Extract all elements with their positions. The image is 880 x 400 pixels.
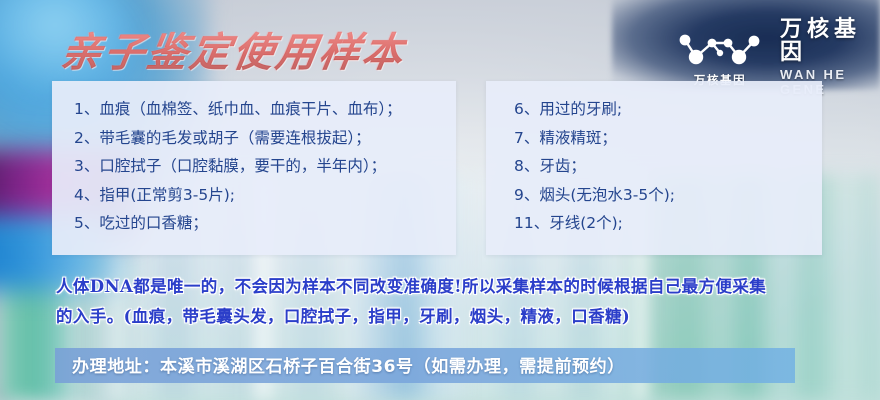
list-item: 8、牙齿； [514, 152, 822, 181]
list-item: 6、用过的牙刷; [514, 95, 822, 124]
list-item: 7、精液精斑； [514, 124, 822, 153]
sample-panel-left: 1、血痕（血棉签、纸巾血、血痕干片、血布）； 2、带毛囊的毛发或胡子（需要连根拔… [52, 81, 456, 255]
sample-list-right: 6、用过的牙刷; 7、精液精斑； 8、牙齿； 9、烟头(无泡水3-5个); 11… [486, 81, 822, 238]
list-item: 1、血痕（血棉签、纸巾血、血痕干片、血布）； [74, 95, 456, 124]
address-text: 办理地址：本溪市溪湖区石桥子百合街36号（如需办理，需提前预约） [72, 352, 625, 377]
page-title: 亲子鉴定使用样本 [57, 20, 410, 78]
list-item: 3、口腔拭子（口腔黏膜，要干的，半年内）； [74, 152, 456, 181]
list-item: 5、吃过的口香糖； [74, 209, 456, 238]
note-line-1: 人体DNA都是唯一的，不会因为样本不同改变准确度!所以采集样本的时候根据自己最方… [56, 272, 856, 302]
dna-molecule-icon: 万核基因 [676, 31, 764, 87]
list-item: 11、牙线(2个); [514, 209, 822, 238]
sample-list-left: 1、血痕（血棉签、纸巾血、血痕干片、血布）； 2、带毛囊的毛发或胡子（需要连根拔… [52, 81, 456, 238]
poster-root: 亲子鉴定使用样本 [0, 0, 880, 400]
brand-name-cn: 万核基因 [780, 18, 880, 64]
sample-panel-right: 6、用过的牙刷; 7、精液精斑； 8、牙齿； 9、烟头(无泡水3-5个); 11… [486, 81, 822, 255]
list-item: 4、指甲(正常剪3-5片); [74, 181, 456, 210]
note-paragraph: 人体DNA都是唯一的，不会因为样本不同改变准确度!所以采集样本的时候根据自己最方… [56, 272, 856, 332]
list-item: 9、烟头(无泡水3-5个); [514, 181, 822, 210]
poster-header: 亲子鉴定使用样本 [0, 0, 880, 82]
list-item: 2、带毛囊的毛发或胡子（需要连根拔起）； [74, 124, 456, 153]
note-line-2: 的入手。(血痕，带毛囊头发，口腔拭子，指甲，牙刷，烟头，精液，口香糖) [56, 302, 856, 332]
